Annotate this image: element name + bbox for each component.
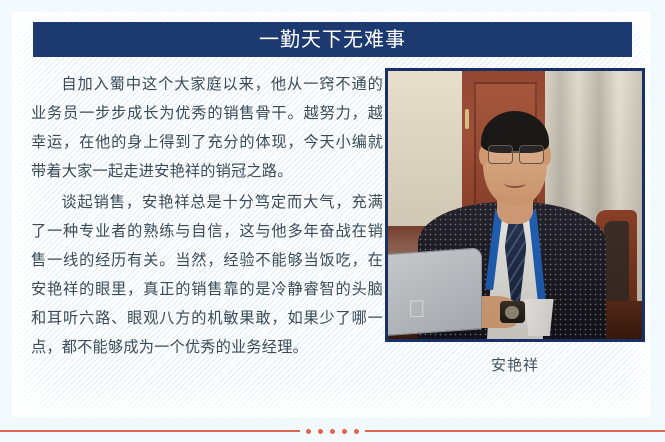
paragraph-1: 自加入蜀中这个大家庭以来，他从一窍不通的业务员一步步成长为优秀的销售骨干。越努力… xyxy=(31,70,383,186)
photo-caption: 安艳祥 xyxy=(385,354,645,375)
person-eye-right xyxy=(527,150,535,152)
divider-dot xyxy=(354,429,359,434)
photo-scene:  xyxy=(388,71,642,339)
office-chair-back xyxy=(604,221,629,309)
title-bar: 一勤天下无难事 xyxy=(33,22,632,57)
divider-line-right xyxy=(365,430,665,432)
person-eye-left xyxy=(496,150,504,152)
divider-dot xyxy=(342,429,347,434)
divider-dot xyxy=(330,429,335,434)
divider-line-left xyxy=(0,430,300,432)
divider-dot-group xyxy=(300,429,365,434)
glasses-lens-left xyxy=(488,145,513,164)
divider-dot xyxy=(306,429,311,434)
divider-dot xyxy=(318,429,323,434)
wristwatch-face xyxy=(505,306,519,319)
laptop-computer xyxy=(388,248,481,338)
portrait-photo:  xyxy=(385,68,645,342)
glasses-lens-right xyxy=(519,145,544,164)
apple-logo-icon:  xyxy=(406,297,428,323)
slide-page: 一勤天下无难事 自加入蜀中这个大家庭以来，他从一窍不通的业务员一步步成长为优秀的… xyxy=(0,0,665,442)
page-title: 一勤天下无难事 xyxy=(259,30,406,50)
paragraph-2: 谈起销售，安艳祥总是十分笃定而大气，充满了一种专业者的熟练与自信，这与他多年奋战… xyxy=(31,188,383,362)
article-body: 自加入蜀中这个大家庭以来，他从一窍不通的业务员一步步成长为优秀的销售骨干。越努力… xyxy=(31,70,383,364)
door-handle xyxy=(465,109,469,129)
glasses-bridge xyxy=(511,151,519,152)
footer-divider xyxy=(0,424,665,438)
